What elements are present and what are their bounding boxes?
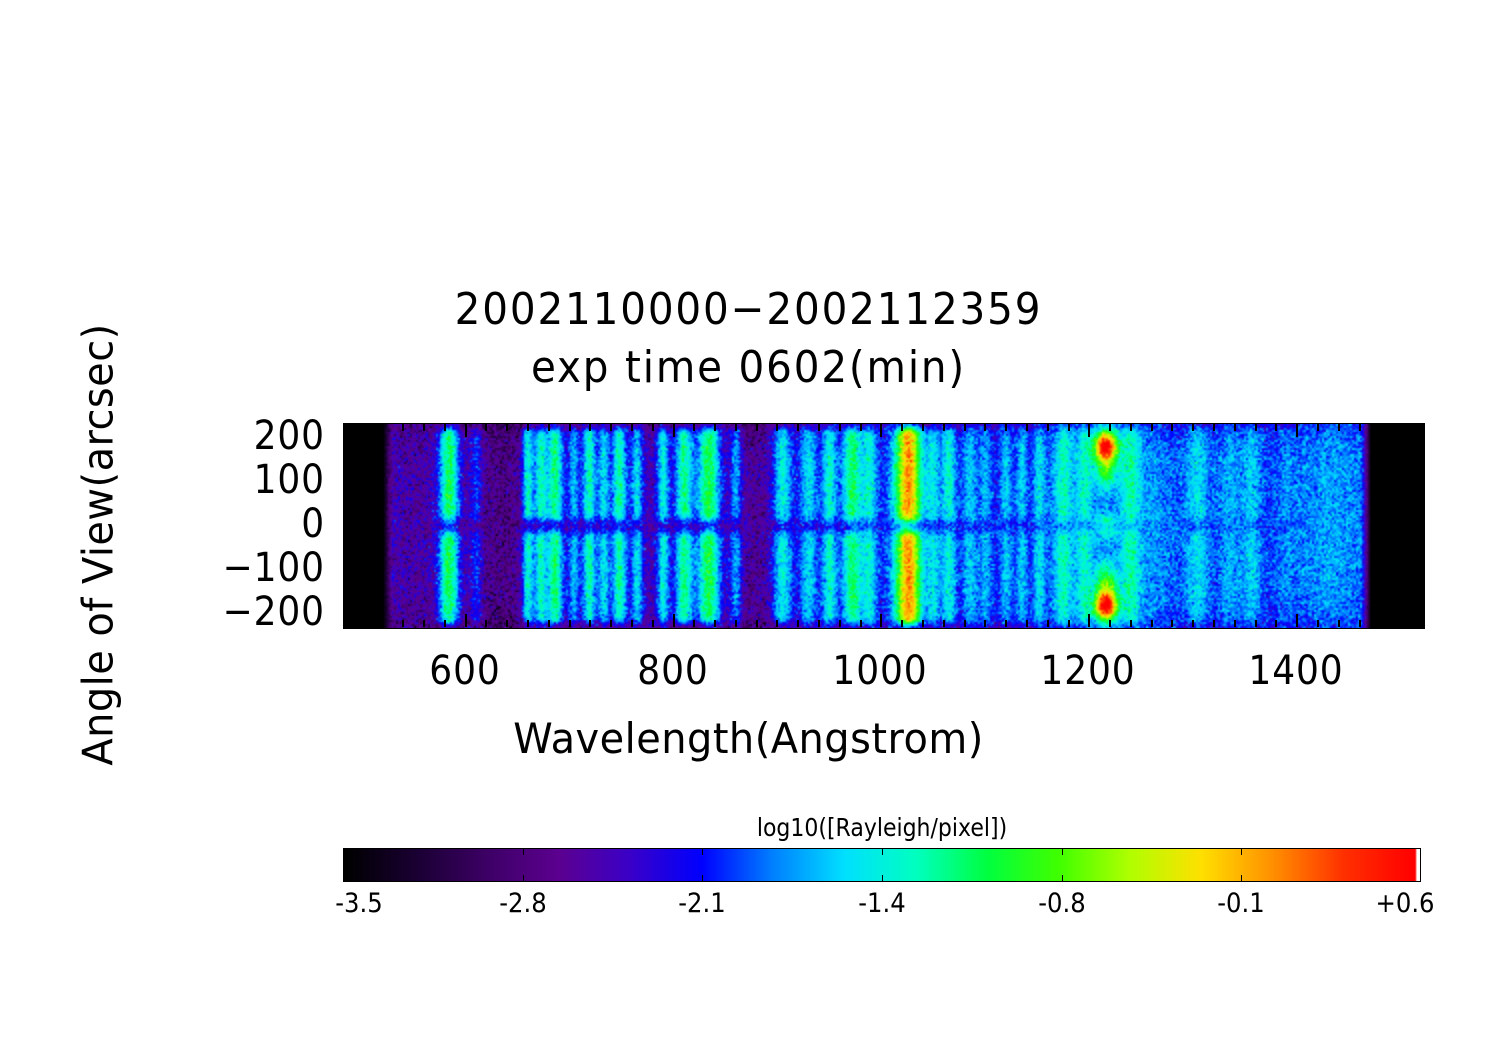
y-tick-right xyxy=(1416,516,1423,518)
y-tick-left xyxy=(344,560,351,562)
x-tick-bottom xyxy=(1005,620,1007,627)
x-tick-top xyxy=(465,424,467,437)
colorbar-tick xyxy=(882,848,883,855)
x-tick-bottom xyxy=(361,620,363,627)
y-tick-label: 0 xyxy=(181,504,325,544)
spectrum-plot-area xyxy=(343,423,1425,629)
x-tick-label: 600 xyxy=(384,651,546,691)
colorbar-tick-label: -3.5 xyxy=(305,890,413,918)
y-tick-right xyxy=(1416,551,1423,553)
spectral-figure: 2002110000−2002112359 exp time 0602(min)… xyxy=(0,0,1497,1058)
y-axis-title: Angle of View(arcsec) xyxy=(74,70,123,1020)
x-tick-top xyxy=(1379,424,1381,431)
colorbar-tick xyxy=(882,875,883,882)
x-tick-bottom xyxy=(631,620,633,627)
y-tick-right xyxy=(1416,622,1423,624)
y-tick-right xyxy=(1416,534,1423,536)
y-tick-right xyxy=(1410,481,1423,483)
x-tick-label: 1000 xyxy=(799,651,961,691)
x-tick-top xyxy=(1317,424,1319,431)
y-tick-right xyxy=(1410,525,1423,527)
y-tick-right xyxy=(1416,455,1423,457)
colorbar-tick xyxy=(702,848,703,855)
x-tick-bottom xyxy=(423,620,425,627)
x-tick-top xyxy=(1400,424,1402,431)
x-tick-bottom xyxy=(1338,620,1340,627)
x-tick-top xyxy=(1359,424,1361,431)
x-tick-label: 1400 xyxy=(1215,651,1377,691)
x-tick-top xyxy=(1192,424,1194,431)
x-tick-top xyxy=(776,424,778,431)
colorbar-tick-label: -2.1 xyxy=(648,890,756,918)
x-tick-bottom xyxy=(506,620,508,627)
x-tick-top xyxy=(1088,424,1090,437)
x-tick-bottom xyxy=(1234,620,1236,627)
x-tick-top xyxy=(652,424,654,431)
x-tick-top xyxy=(1047,424,1049,431)
x-tick-bottom xyxy=(1192,620,1194,627)
x-tick-top xyxy=(506,424,508,431)
x-tick-top xyxy=(423,424,425,431)
y-tick-right xyxy=(1416,595,1423,597)
spectrum-heatmap xyxy=(344,424,1424,628)
x-tick-top xyxy=(673,424,675,437)
x-tick-bottom xyxy=(818,620,820,627)
x-tick-bottom xyxy=(776,620,778,627)
x-tick-bottom xyxy=(1068,620,1070,627)
y-tick-label: 200 xyxy=(181,416,325,456)
x-tick-bottom xyxy=(1151,620,1153,627)
y-tick-left xyxy=(344,543,351,545)
x-tick-top xyxy=(1171,424,1173,431)
x-tick-bottom xyxy=(1213,620,1215,627)
x-tick-top xyxy=(1296,424,1298,437)
x-tick-top xyxy=(756,424,758,431)
x-tick-bottom xyxy=(485,620,487,627)
y-tick-right xyxy=(1410,569,1423,571)
x-tick-bottom xyxy=(1359,620,1361,627)
y-tick-right xyxy=(1416,490,1423,492)
y-tick-left xyxy=(344,481,357,483)
y-tick-left xyxy=(344,455,351,457)
x-tick-top xyxy=(735,424,737,431)
colorbar-tick xyxy=(1062,875,1063,882)
x-tick-bottom xyxy=(381,620,383,627)
x-tick-top xyxy=(589,424,591,431)
x-tick-bottom xyxy=(1171,620,1173,627)
y-tick-right xyxy=(1416,499,1423,501)
y-tick-right xyxy=(1416,428,1423,430)
y-tick-left xyxy=(344,604,351,606)
x-tick-bottom xyxy=(569,620,571,627)
colorbar-tick-label: -2.8 xyxy=(469,890,577,918)
x-tick-top xyxy=(485,424,487,431)
x-tick-bottom xyxy=(652,620,654,627)
x-tick-top xyxy=(361,424,363,431)
colorbar-tick-label: -0.1 xyxy=(1187,890,1295,918)
y-tick-right xyxy=(1416,560,1423,562)
x-tick-bottom xyxy=(735,620,737,627)
x-tick-top xyxy=(1109,424,1111,431)
y-tick-right xyxy=(1416,587,1423,589)
x-tick-top xyxy=(1026,424,1028,431)
y-tick-left xyxy=(344,437,357,439)
x-tick-bottom xyxy=(1047,620,1049,627)
x-tick-top xyxy=(922,424,924,431)
y-tick-right xyxy=(1416,578,1423,580)
x-tick-bottom xyxy=(860,620,862,627)
x-tick-bottom xyxy=(714,620,716,627)
x-tick-bottom xyxy=(589,620,591,627)
y-tick-left xyxy=(344,446,351,448)
x-tick-top xyxy=(1338,424,1340,431)
x-tick-top xyxy=(1005,424,1007,431)
y-tick-right xyxy=(1410,613,1423,615)
x-tick-top xyxy=(444,424,446,431)
x-tick-top xyxy=(1275,424,1277,431)
figure-title-line2: exp time 0602(min) xyxy=(60,343,1437,393)
x-tick-bottom xyxy=(548,620,550,627)
y-tick-left xyxy=(344,499,351,501)
y-tick-left xyxy=(344,569,357,571)
colorbar-tick-label: +0.6 xyxy=(1351,890,1459,918)
y-tick-left xyxy=(344,507,351,509)
x-tick-top xyxy=(839,424,841,431)
colorbar-tick xyxy=(702,875,703,882)
y-tick-left xyxy=(344,490,351,492)
x-tick-bottom xyxy=(1109,620,1111,627)
x-tick-bottom xyxy=(402,620,404,627)
x-tick-bottom xyxy=(964,620,966,627)
y-tick-right xyxy=(1416,472,1423,474)
x-tick-top xyxy=(860,424,862,431)
x-tick-top xyxy=(880,424,882,437)
x-tick-bottom xyxy=(1088,614,1090,627)
colorbar-tick xyxy=(523,875,524,882)
x-tick-top xyxy=(381,424,383,431)
x-tick-bottom xyxy=(901,620,903,627)
x-tick-top xyxy=(631,424,633,431)
y-tick-right xyxy=(1416,507,1423,509)
y-tick-left xyxy=(344,525,357,527)
x-tick-label: 1200 xyxy=(1007,651,1169,691)
x-tick-top xyxy=(1068,424,1070,431)
colorbar-tick xyxy=(523,848,524,855)
x-tick-bottom xyxy=(984,620,986,627)
y-tick-left xyxy=(344,587,351,589)
y-tick-label: 100 xyxy=(181,460,325,500)
x-tick-bottom xyxy=(527,620,529,627)
y-tick-left xyxy=(344,613,357,615)
x-tick-top xyxy=(1151,424,1153,431)
x-tick-top xyxy=(1255,424,1257,431)
x-tick-top xyxy=(693,424,695,431)
x-tick-bottom xyxy=(610,620,612,627)
x-tick-top xyxy=(610,424,612,431)
x-tick-top xyxy=(1213,424,1215,431)
x-tick-top xyxy=(943,424,945,431)
x-tick-bottom xyxy=(1317,620,1319,627)
x-tick-top xyxy=(901,424,903,431)
y-tick-left xyxy=(344,428,351,430)
x-axis-title: Wavelength(Angstrom) xyxy=(37,714,1459,763)
figure-title-line1: 2002110000−2002112359 xyxy=(60,285,1437,335)
colorbar-tick-label: -1.4 xyxy=(828,890,936,918)
x-tick-top xyxy=(1130,424,1132,431)
colorbar-tick xyxy=(1241,875,1242,882)
x-tick-top xyxy=(964,424,966,431)
y-tick-left xyxy=(344,595,351,597)
x-tick-top xyxy=(797,424,799,431)
y-tick-right xyxy=(1416,446,1423,448)
x-tick-top xyxy=(569,424,571,431)
x-tick-top xyxy=(818,424,820,431)
y-tick-right xyxy=(1416,463,1423,465)
y-tick-label: −200 xyxy=(181,592,325,632)
y-tick-left xyxy=(344,472,351,474)
colorbar-tick-label: -0.8 xyxy=(1008,890,1116,918)
x-tick-bottom xyxy=(465,614,467,627)
y-tick-right xyxy=(1416,543,1423,545)
colorbar-tick xyxy=(1241,848,1242,855)
x-tick-bottom xyxy=(673,614,675,627)
x-tick-bottom xyxy=(922,620,924,627)
x-tick-bottom xyxy=(444,620,446,627)
x-tick-bottom xyxy=(839,620,841,627)
y-tick-left xyxy=(344,551,351,553)
y-tick-left xyxy=(344,516,351,518)
x-tick-top xyxy=(527,424,529,431)
x-tick-bottom xyxy=(1296,614,1298,627)
x-tick-bottom xyxy=(797,620,799,627)
y-tick-right xyxy=(1410,437,1423,439)
x-tick-top xyxy=(402,424,404,431)
x-tick-label: 800 xyxy=(592,651,754,691)
x-tick-top xyxy=(1234,424,1236,431)
colorbar-tick xyxy=(1062,848,1063,855)
y-tick-left xyxy=(344,534,351,536)
x-tick-top xyxy=(548,424,550,431)
x-tick-bottom xyxy=(1400,620,1402,627)
x-tick-bottom xyxy=(1130,620,1132,627)
colorbar-title: log10([Rayleigh/pixel]) xyxy=(408,814,1357,842)
x-tick-bottom xyxy=(756,620,758,627)
y-tick-right xyxy=(1416,604,1423,606)
y-tick-left xyxy=(344,622,351,624)
x-tick-bottom xyxy=(1379,620,1381,627)
x-tick-bottom xyxy=(880,614,882,627)
x-tick-bottom xyxy=(1275,620,1277,627)
y-tick-label: −100 xyxy=(181,548,325,588)
x-tick-bottom xyxy=(1026,620,1028,627)
x-tick-bottom xyxy=(693,620,695,627)
y-tick-left xyxy=(344,463,351,465)
x-tick-top xyxy=(984,424,986,431)
x-tick-bottom xyxy=(1255,620,1257,627)
x-tick-top xyxy=(714,424,716,431)
y-tick-left xyxy=(344,578,351,580)
x-tick-bottom xyxy=(943,620,945,627)
